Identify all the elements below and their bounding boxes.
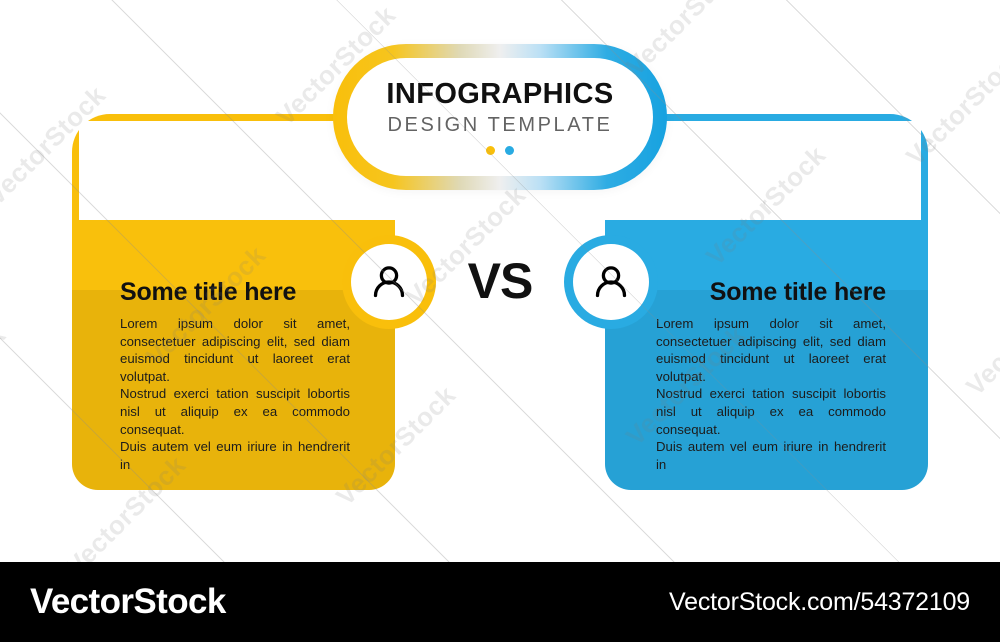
infographic-canvas: Some title here Lorem ipsum dolor sit am… <box>0 0 1000 562</box>
panel-left-body-line-1: Lorem ipsum dolor sit amet, consectetuer… <box>120 315 350 385</box>
watermark-word: VectorStock <box>960 270 1000 402</box>
panel-left-body-line-2: Nostrud exerci tation suscipit lobortis … <box>120 385 350 438</box>
page-title: INFOGRAPHICS <box>386 79 613 109</box>
panel-right-body-line-3: Duis autem vel eum iriure in hendrerit i… <box>656 438 886 473</box>
avatar-right[interactable] <box>564 235 658 329</box>
person-icon <box>589 260 633 304</box>
footer-watermark-bar: VectorStock VectorStock.com/54372109 <box>0 562 1000 642</box>
panel-right[interactable]: Some title here Lorem ipsum dolor sit am… <box>605 220 928 490</box>
panel-right-title: Some title here <box>710 278 886 307</box>
panel-right-body-line-1: Lorem ipsum dolor sit amet, consectetuer… <box>656 315 886 385</box>
panel-right-body: Lorem ipsum dolor sit amet, consectetuer… <box>656 315 886 473</box>
panel-left-title: Some title here <box>120 278 296 307</box>
person-icon <box>367 260 411 304</box>
title-dots <box>486 146 514 155</box>
vectorstock-logo: VectorStock <box>30 582 226 622</box>
dot-blue-icon <box>505 146 514 155</box>
avatar-right-core <box>573 244 649 320</box>
page-subtitle: DESIGN TEMPLATE <box>388 114 613 136</box>
dot-yellow-icon <box>486 146 495 155</box>
panel-left-body: Lorem ipsum dolor sit amet, consectetuer… <box>120 315 350 473</box>
vectorstock-url: VectorStock.com/54372109 <box>669 588 970 617</box>
watermark-word: VectorStock <box>0 320 12 452</box>
header-pill-inner: INFOGRAPHICS DESIGN TEMPLATE <box>347 58 653 176</box>
avatar-left[interactable] <box>342 235 436 329</box>
avatar-left-core <box>351 244 427 320</box>
panel-left-body-line-3: Duis autem vel eum iriure in hendrerit i… <box>120 438 350 473</box>
header-pill[interactable]: INFOGRAPHICS DESIGN TEMPLATE <box>333 44 667 190</box>
panel-right-body-line-2: Nostrud exerci tation suscipit lobortis … <box>656 385 886 438</box>
